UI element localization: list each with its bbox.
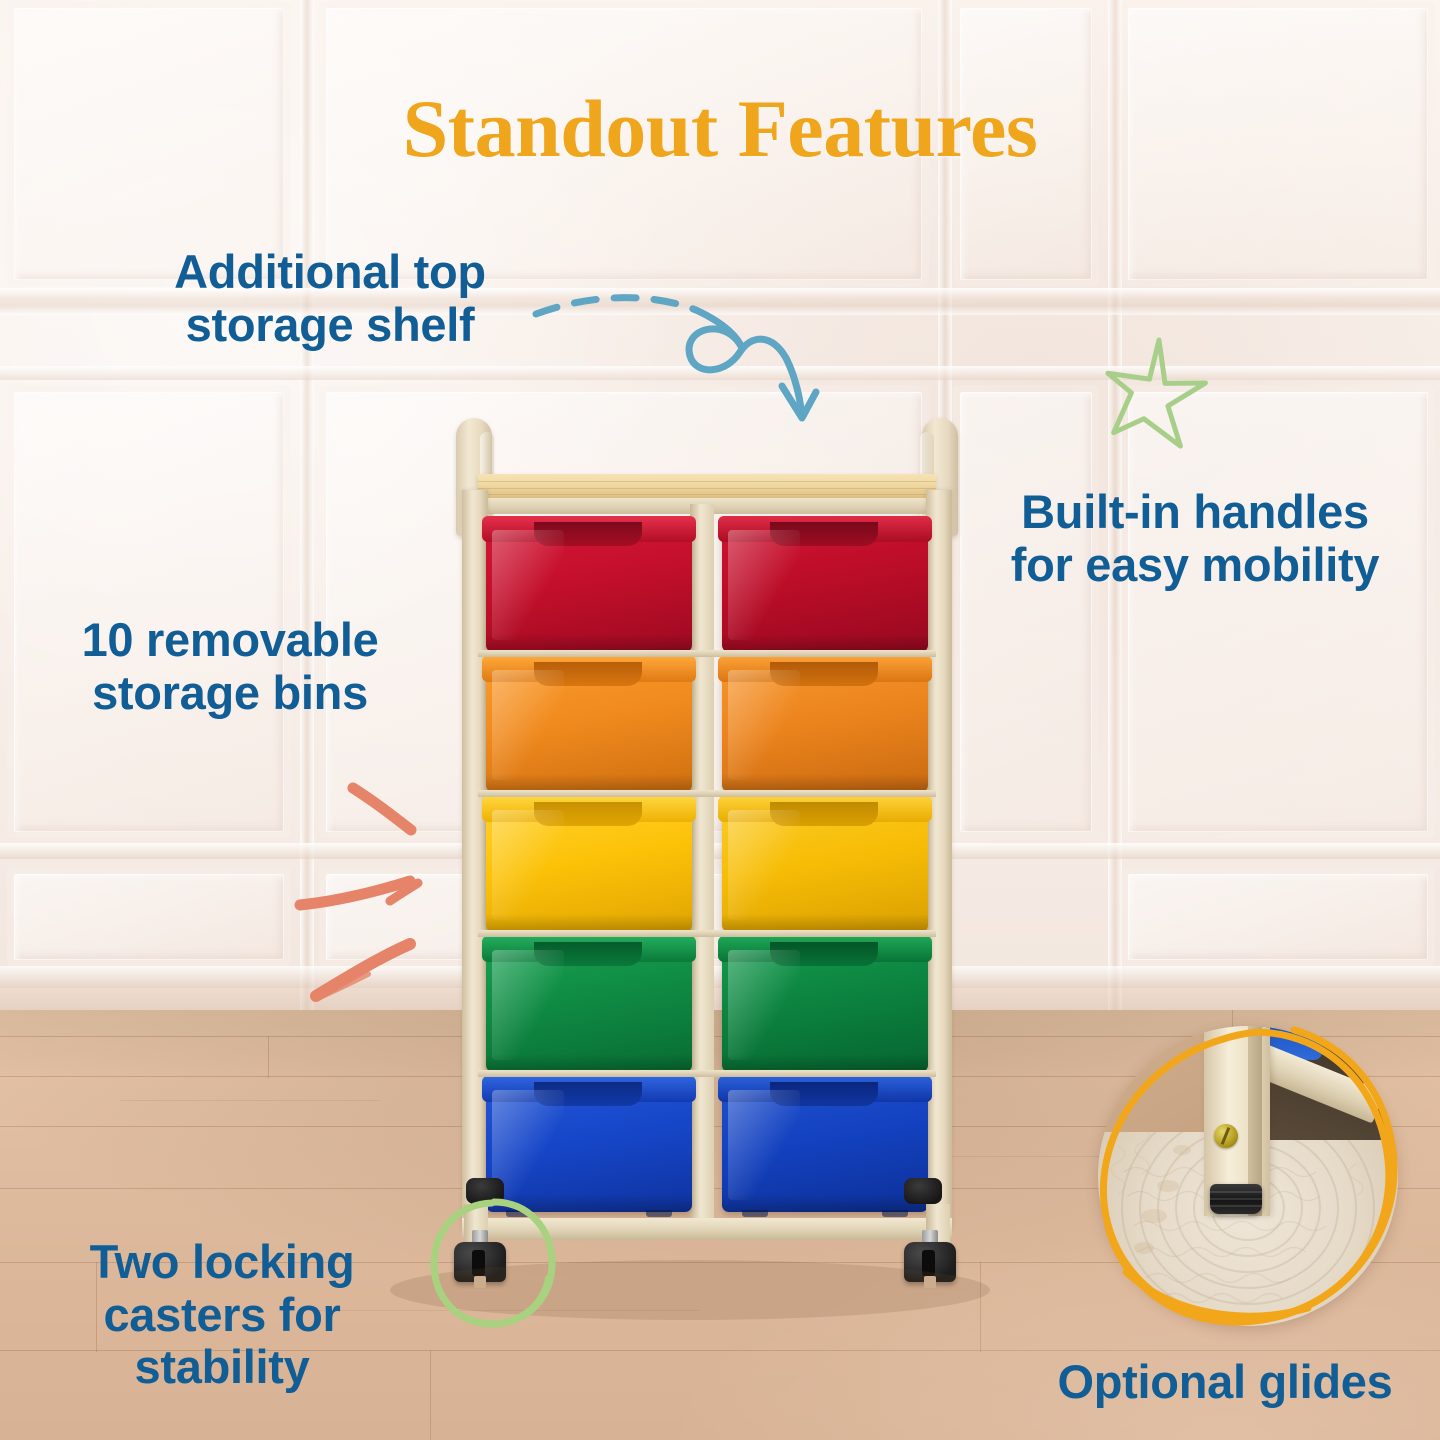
feature-label-top-shelf: Additional top storage shelf [110,246,550,351]
bin-highlight [728,950,800,1060]
bin-highlight [492,810,564,920]
bin-shelf-rail [478,930,936,937]
bin-highlight [492,530,564,640]
storage-bin-yellow[interactable] [482,794,696,932]
cart-base-rail [462,1218,952,1240]
screw-icon [1214,1124,1238,1148]
wall-panel [1128,392,1428,832]
label-line: storage bins [20,667,440,720]
bin-shelf-rail [478,790,936,797]
caster-gap [474,1276,486,1288]
label-line: 10 removable [20,614,440,667]
bin-highlight [492,670,564,780]
bin-foot [882,1210,908,1217]
shelf-grain [478,494,936,495]
bin-foot [506,1210,532,1217]
glide-detail-inset [1084,1016,1414,1346]
bin-highlight [492,950,564,1060]
feature-label-locking-casters: Two locking casters for stability [22,1236,422,1394]
feature-label-built-in-handles: Built-in handles for easy mobility [960,486,1430,591]
bin-highlight [728,1090,800,1200]
feature-label-removable-bins: 10 removable storage bins [20,614,440,719]
wall-panel [14,874,284,960]
storage-bin-green[interactable] [482,934,696,1072]
locking-caster-front-left [454,1230,506,1290]
caster-lock-lever [922,1250,935,1276]
inset-floor-corner [1098,1026,1214,1132]
label-line: casters for [22,1289,422,1342]
wall-rail [0,366,1440,380]
infographic-canvas: Standout Features Additional top storage… [0,0,1440,1440]
bin-highlight [728,670,800,780]
bin-shelf-rail [478,650,936,657]
caster-gap [924,1276,936,1288]
glide-foot [1210,1184,1262,1214]
top-storage-shelf [478,474,936,500]
bin-shelf-rail [478,1070,936,1077]
label-line: Built-in handles [960,486,1430,539]
storage-bin-green[interactable] [718,934,932,1072]
label-line: for easy mobility [960,539,1430,592]
bin-grid [482,514,932,1214]
bin-column-right [718,514,932,1214]
label-line: Two locking [22,1236,422,1289]
storage-bin-red[interactable] [718,514,932,652]
label-line: stability [22,1341,422,1394]
storage-bin-red[interactable] [482,514,696,652]
storage-cart [452,418,962,1258]
wall-panel [960,392,1092,832]
storage-bin-blue[interactable] [482,1074,696,1212]
caster-lock-lever [472,1250,485,1276]
glide-ridge [1210,1191,1262,1193]
bin-foot [742,1210,768,1217]
bin-foot [646,1210,672,1217]
wall-panel [14,392,284,832]
storage-bin-orange[interactable] [482,654,696,792]
bin-column-left [482,514,696,1214]
caster-rear-right [904,1178,942,1204]
locking-caster-front-right [904,1230,956,1290]
storage-bin-blue[interactable] [718,1074,932,1212]
glide-inset-photo [1098,1026,1398,1326]
wall-panel [1128,874,1428,960]
glide-ridge [1210,1198,1262,1200]
glide-ridge [1210,1205,1262,1207]
storage-bin-yellow[interactable] [718,794,932,932]
label-line: Additional top [110,246,550,299]
shelf-grain [478,488,936,489]
bin-highlight [728,530,800,640]
feature-label-optional-glides: Optional glides [1020,1356,1430,1409]
storage-bin-orange[interactable] [718,654,932,792]
page-title: Standout Features [0,82,1440,176]
label-line: storage shelf [110,299,550,352]
caster-rear-left [466,1178,504,1204]
bin-highlight [728,810,800,920]
shelf-grain [478,481,936,482]
